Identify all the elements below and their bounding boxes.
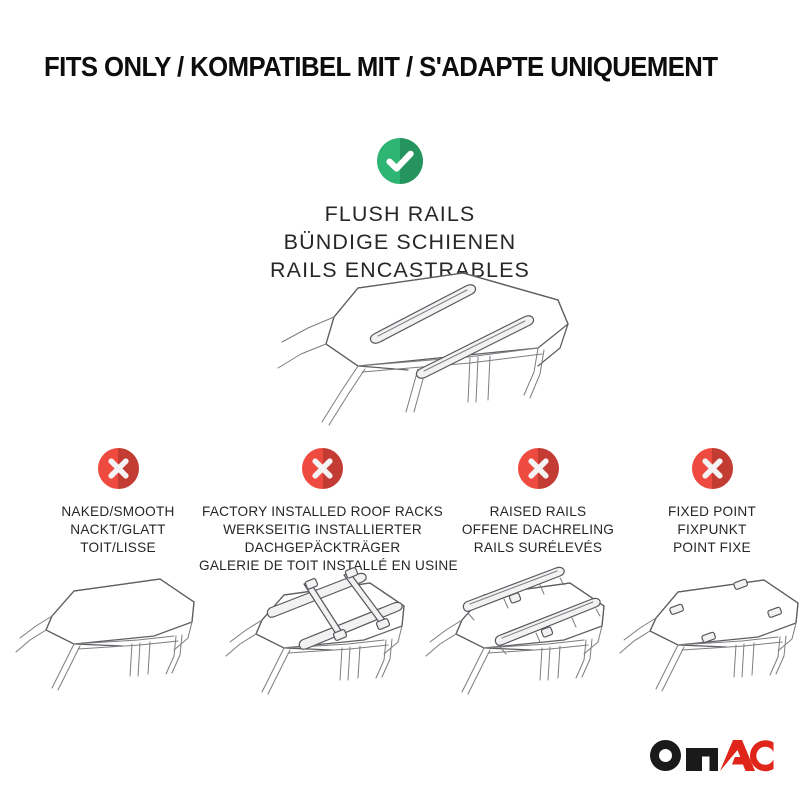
- incompatible-item-fixed-point: FIXED POINT FIXPUNKT POINT FIXE: [632, 448, 792, 557]
- omac-logo: [648, 738, 774, 774]
- x-circle-icon: [518, 448, 559, 489]
- incompatible-label-en: NAKED/SMOOTH: [20, 503, 216, 521]
- incompatible-labels: RAISED RAILS OFFENE DACHRELING RAILS SUR…: [440, 503, 636, 557]
- car-roof-naked-smooth-illustration: [12, 558, 202, 703]
- incompatible-label-en: FACTORY INSTALLED ROOF RACKS: [199, 503, 446, 521]
- incompatible-label-fr: TOIT/LISSE: [20, 539, 216, 557]
- incompatible-item-factory-roof-racks: FACTORY INSTALLED ROOF RACKS WERKSEITIG …: [199, 448, 446, 575]
- compatible-label-de: BÜNDIGE SCHIENEN: [0, 229, 800, 257]
- incompatible-label-de: NACKT/GLATT: [20, 521, 216, 539]
- check-circle-icon: [377, 138, 423, 184]
- incompatible-labels: FIXED POINT FIXPUNKT POINT FIXE: [632, 503, 792, 557]
- incompatible-label-de: OFFENE DACHRELING: [440, 521, 636, 539]
- incompatible-item-raised-rails: RAISED RAILS OFFENE DACHRELING RAILS SUR…: [440, 448, 636, 557]
- incompatible-label-de-1: WERKSEITIG INSTALLIERTER: [199, 521, 446, 539]
- incompatible-section: NAKED/SMOOTH NACKT/GLATT TOIT/LISSE: [0, 448, 800, 708]
- incompatible-label-de: FIXPUNKT: [632, 521, 792, 539]
- incompatible-label-fr: RAILS SURÉLEVÉS: [440, 539, 636, 557]
- incompatible-item-naked-smooth: NAKED/SMOOTH NACKT/GLATT TOIT/LISSE: [20, 448, 216, 557]
- page-title: FITS ONLY / KOMPATIBEL MIT / S'ADAPTE UN…: [44, 52, 736, 82]
- incompatible-labels: NAKED/SMOOTH NACKT/GLATT TOIT/LISSE: [20, 503, 216, 557]
- x-circle-icon: [302, 448, 343, 489]
- incompatible-label-fr: POINT FIXE: [632, 539, 792, 557]
- x-circle-icon: [692, 448, 733, 489]
- compatible-label-en: FLUSH RAILS: [0, 201, 800, 229]
- incompatible-label-en: RAISED RAILS: [440, 503, 636, 521]
- incompatible-label-de-2: DACHGEPÄCKTRÄGER: [199, 539, 446, 557]
- car-roof-raised-rails-illustration: [418, 558, 616, 703]
- x-circle-icon: [98, 448, 139, 489]
- car-roof-factory-roof-racks-illustration: [218, 558, 416, 703]
- incompatible-label-en: FIXED POINT: [632, 503, 792, 521]
- car-roof-flush-rails-illustration: [238, 262, 588, 437]
- car-roof-fixed-point-illustration: [618, 558, 800, 703]
